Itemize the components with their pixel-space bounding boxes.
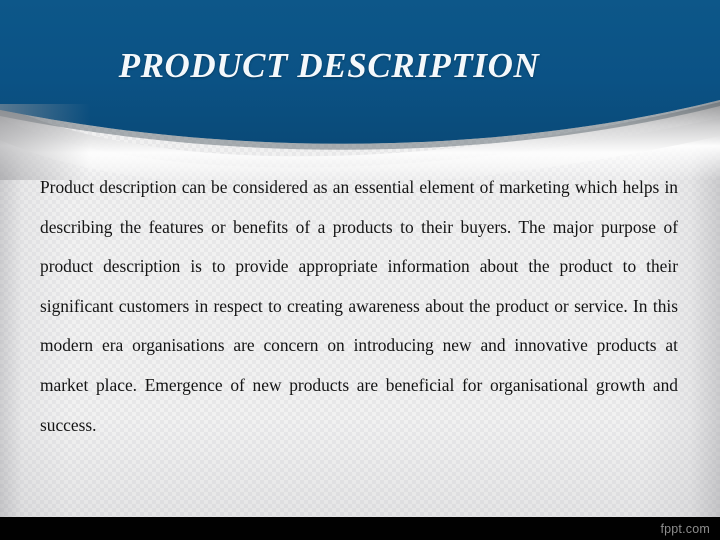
bottom-bar [0, 517, 720, 540]
header-banner-artwork [0, 0, 720, 180]
watermark-fppt: fppt.com [660, 521, 710, 537]
slide-canvas: PRODUCT DESCRIPTION Product description … [0, 0, 720, 540]
slide-body-paragraph: Product description can be considered as… [40, 168, 678, 485]
slide-body-container: Product description can be considered as… [40, 168, 678, 485]
slide-title: PRODUCT DESCRIPTION [0, 46, 720, 86]
